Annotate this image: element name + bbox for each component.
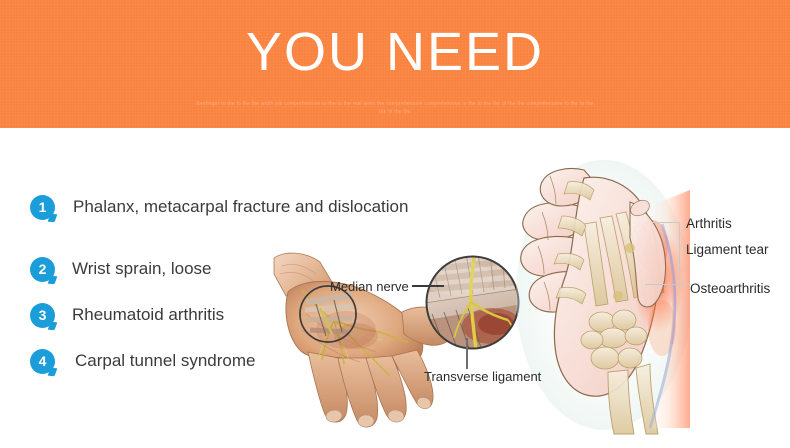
list-item-label: Phalanx, metacarpal fracture and disloca… <box>73 197 408 217</box>
label-median-nerve: Median nerve <box>330 279 409 294</box>
median-nerve-leader-line <box>412 285 444 287</box>
label-arthritis: Arthritis <box>686 216 732 232</box>
list-item-label: Wrist sprain, loose <box>72 259 212 279</box>
list-item-label: Carpal tunnel syndrome <box>75 351 255 371</box>
list-item-number-badge: 2 <box>30 257 55 282</box>
skeletal-hand-illustration <box>512 150 690 435</box>
arthritis-leader-horizontal <box>652 222 680 223</box>
arthritis-leader-vertical <box>679 222 680 284</box>
label-ligament-tear: Ligament tear <box>686 242 769 258</box>
list-item: 3 Rheumatoid arthritis <box>30 298 224 332</box>
list-item-number-badge: 3 <box>30 303 55 328</box>
list-item: 1 Phalanx, metacarpal fracture and dislo… <box>30 190 408 224</box>
page-title: YOU NEED <box>0 22 790 82</box>
magnifier-circle-inset <box>424 254 521 351</box>
label-transverse-ligament: Transverse ligament <box>424 369 541 384</box>
header-banner: YOU NEED forefinger to the to the the wi… <box>0 0 790 128</box>
skeletal-hand-svg <box>512 150 690 435</box>
osteoarthritis-leader-horizontal <box>645 284 690 285</box>
list-item-number-badge: 1 <box>30 195 55 220</box>
banner-subtext: forefinger to the to the the width job c… <box>0 100 790 116</box>
list-item-label: Rheumatoid arthritis <box>72 305 224 325</box>
list-item-number-badge: 4 <box>30 349 55 374</box>
label-osteoarthritis: Osteoarthritis <box>690 281 770 297</box>
list-item: 4 Carpal tunnel syndrome <box>30 344 255 378</box>
list-item: 2 Wrist sprain, loose <box>30 252 212 286</box>
transverse-ligament-leader-line <box>466 338 468 369</box>
magnifier-inset-svg <box>424 254 521 351</box>
